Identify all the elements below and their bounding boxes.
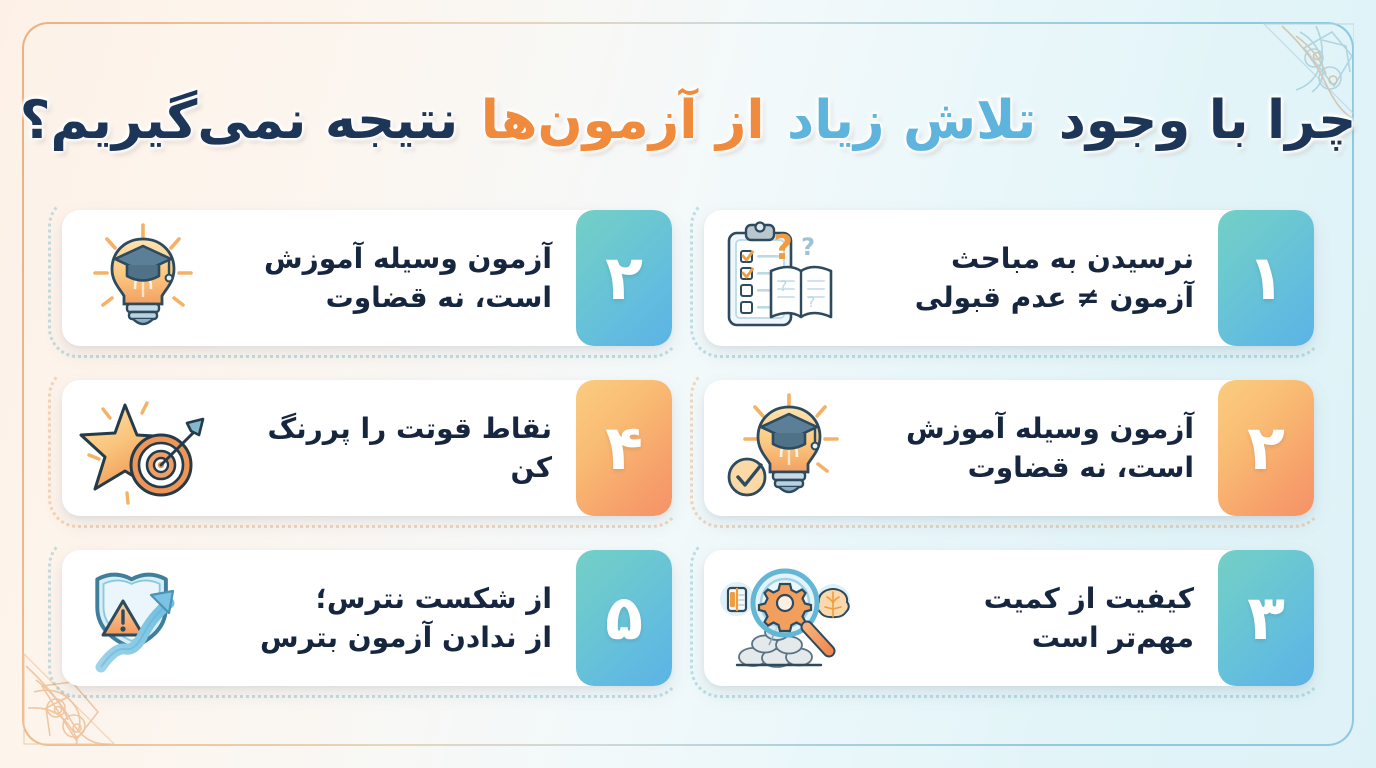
magnifier-gear-book-brain-stones-icon bbox=[710, 556, 860, 680]
card-2-text: آزمون وسیله آموزش است، نه قضاوت bbox=[218, 239, 568, 317]
clipboard-checklist-book-question-icon: ? ? ? ? bbox=[710, 216, 860, 340]
card-slot-4: ۴ نقاط قوتت را پررنگ کن bbox=[62, 380, 672, 516]
infographic-canvas: چرا با وجود تلاش زیاد از آزمون‌ها نتیجه … bbox=[0, 0, 1376, 768]
card-4-body: نقاط قوتت را پررنگ کن bbox=[62, 380, 576, 516]
card-1[interactable]: ۱ نرسیدن به مباحث آزمون ≠ عدم قبولی bbox=[704, 210, 1314, 346]
card-6[interactable]: ۵ از شکست نترس؛ از ندادن آزمون بترس bbox=[62, 550, 672, 686]
card-slot-3: ۲ آزمون وسیله آموزش است، نه قضاوت bbox=[704, 380, 1314, 516]
card-5[interactable]: ۳ کیفیت از کمیت مهم‌تر است bbox=[704, 550, 1314, 686]
card-2[interactable]: ۲ آزمون وسیله آموزش است، نه قضاوت bbox=[62, 210, 672, 346]
title-segment-4: نتیجه نمی‌گیریم؟ bbox=[18, 90, 461, 151]
card-3[interactable]: ۲ آزمون وسیله آموزش است، نه قضاوت bbox=[704, 380, 1314, 516]
card-slot-6: ۵ از شکست نترس؛ از ندادن آزمون بترس bbox=[62, 550, 672, 686]
svg-text:?: ? bbox=[808, 295, 815, 311]
card-4[interactable]: ۴ نقاط قوتت را پررنگ کن bbox=[62, 380, 672, 516]
card-5-number: ۳ bbox=[1247, 587, 1285, 649]
page-title: چرا با وجود تلاش زیاد از آزمون‌ها نتیجه … bbox=[18, 78, 1359, 164]
cards-grid: ۱ نرسیدن به مباحث آزمون ≠ عدم قبولی bbox=[62, 210, 1314, 710]
card-6-body: از شکست نترس؛ از ندادن آزمون بترس bbox=[62, 550, 576, 686]
card-4-text: نقاط قوتت را پررنگ کن bbox=[218, 409, 568, 487]
title-segment-3: از آزمون‌ها bbox=[479, 90, 767, 151]
svg-text:?: ? bbox=[780, 279, 787, 295]
card-2-number-panel: ۲ bbox=[576, 210, 672, 346]
card-1-text: نرسیدن به مباحث آزمون ≠ عدم قبولی bbox=[860, 239, 1210, 317]
card-1-number-panel: ۱ bbox=[1218, 210, 1314, 346]
card-5-body: کیفیت از کمیت مهم‌تر است bbox=[704, 550, 1218, 686]
card-slot-2: ۲ آزمون وسیله آموزش است، نه قضاوت bbox=[62, 210, 672, 346]
svg-text:?: ? bbox=[773, 228, 793, 268]
star-target-arrow-icon bbox=[68, 386, 218, 510]
shield-warning-growth-arrow-icon bbox=[68, 556, 218, 680]
card-3-text: آزمون وسیله آموزش است، نه قضاوت bbox=[860, 409, 1210, 487]
card-6-number-panel: ۵ bbox=[576, 550, 672, 686]
card-2-number: ۲ bbox=[605, 247, 643, 309]
lightbulb-graduation-cap-icon bbox=[68, 216, 218, 340]
card-5-text: کیفیت از کمیت مهم‌تر است bbox=[860, 579, 1210, 657]
card-2-body: آزمون وسیله آموزش است، نه قضاوت bbox=[62, 210, 576, 346]
page-title-wrapper: چرا با وجود تلاش زیاد از آزمون‌ها نتیجه … bbox=[0, 78, 1376, 164]
card-6-number: ۵ bbox=[605, 587, 643, 649]
svg-text:?: ? bbox=[801, 233, 815, 261]
title-segment-2: تلاش زیاد bbox=[785, 90, 1038, 151]
card-5-number-panel: ۳ bbox=[1218, 550, 1314, 686]
card-3-number-panel: ۲ bbox=[1218, 380, 1314, 516]
card-3-number: ۲ bbox=[1247, 417, 1285, 479]
card-4-number-panel: ۴ bbox=[576, 380, 672, 516]
card-3-body: آزمون وسیله آموزش است، نه قضاوت bbox=[704, 380, 1218, 516]
card-4-number: ۴ bbox=[605, 417, 643, 479]
lightbulb-graduation-cap-check-icon bbox=[710, 386, 860, 510]
card-1-body: نرسیدن به مباحث آزمون ≠ عدم قبولی bbox=[704, 210, 1218, 346]
card-1-number: ۱ bbox=[1247, 247, 1285, 309]
title-segment-1: چرا با وجود bbox=[1057, 90, 1359, 151]
card-slot-1: ۱ نرسیدن به مباحث آزمون ≠ عدم قبولی bbox=[704, 210, 1314, 346]
card-6-text: از شکست نترس؛ از ندادن آزمون بترس bbox=[218, 579, 568, 657]
card-slot-5: ۳ کیفیت از کمیت مهم‌تر است bbox=[704, 550, 1314, 686]
